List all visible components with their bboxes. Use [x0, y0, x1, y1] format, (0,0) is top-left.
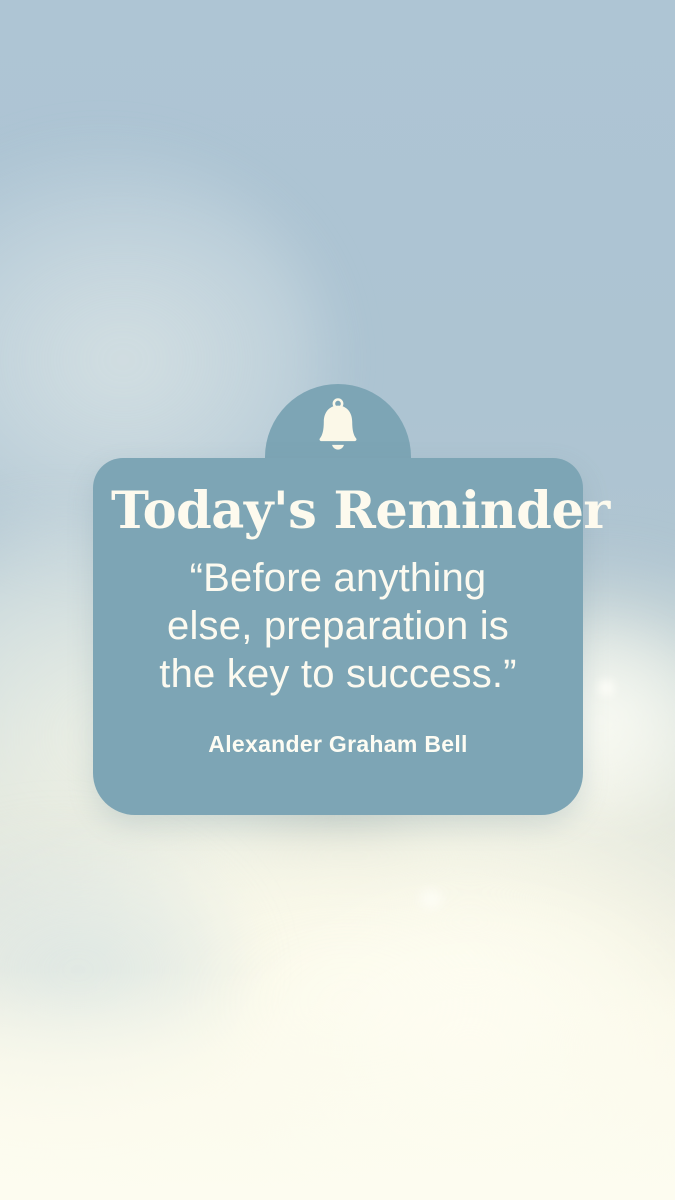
cloud-bottom-puff — [240, 900, 675, 1200]
cloud-bottom-mass — [0, 830, 675, 1200]
quote-line-2: else, preparation is — [111, 602, 565, 650]
bell-icon — [313, 396, 363, 456]
cloud-speck-a — [598, 680, 614, 696]
cloud-speck-b — [420, 890, 442, 908]
quote-text: “Before anything else, preparation is th… — [111, 554, 565, 698]
page-title: Today's Reminder — [111, 482, 565, 540]
quote-line-1: “Before anything — [111, 554, 565, 602]
cloud-bottom-left-blue — [0, 840, 240, 1100]
reminder-card: Today's Reminder “Before anything else, … — [93, 458, 583, 815]
quote-author: Alexander Graham Bell — [111, 730, 565, 758]
cloud-bottom-base — [0, 970, 675, 1200]
card-body: Today's Reminder “Before anything else, … — [93, 458, 583, 758]
reminder-poster: Today's Reminder “Before anything else, … — [0, 0, 675, 1200]
quote-line-3: the key to success.” — [111, 650, 565, 698]
